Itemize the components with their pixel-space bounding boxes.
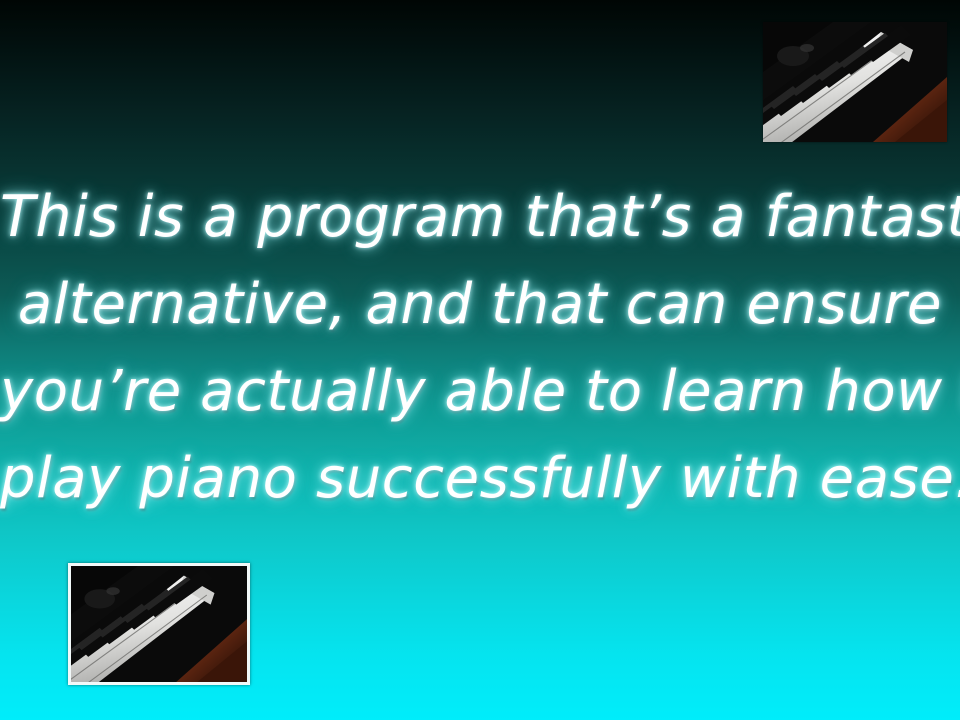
piano-keyboard-graphic [71,566,247,682]
caption-line-3: you’re actually able to learn how to [0,348,960,435]
piano-keyboard-graphic [763,22,947,142]
caption-text-block: This is a program that’s a fantastic alt… [0,174,960,522]
caption-line-4: play piano successfully with ease. [0,435,960,522]
piano-keyboard-top-right-image [763,22,947,142]
slide-canvas: This is a program that’s a fantastic alt… [0,0,960,720]
caption-line-2: alternative, and that can ensure [0,261,960,348]
piano-keyboard-bottom-left-image [68,563,250,685]
caption-line-1: This is a program that’s a fantastic [0,174,960,261]
